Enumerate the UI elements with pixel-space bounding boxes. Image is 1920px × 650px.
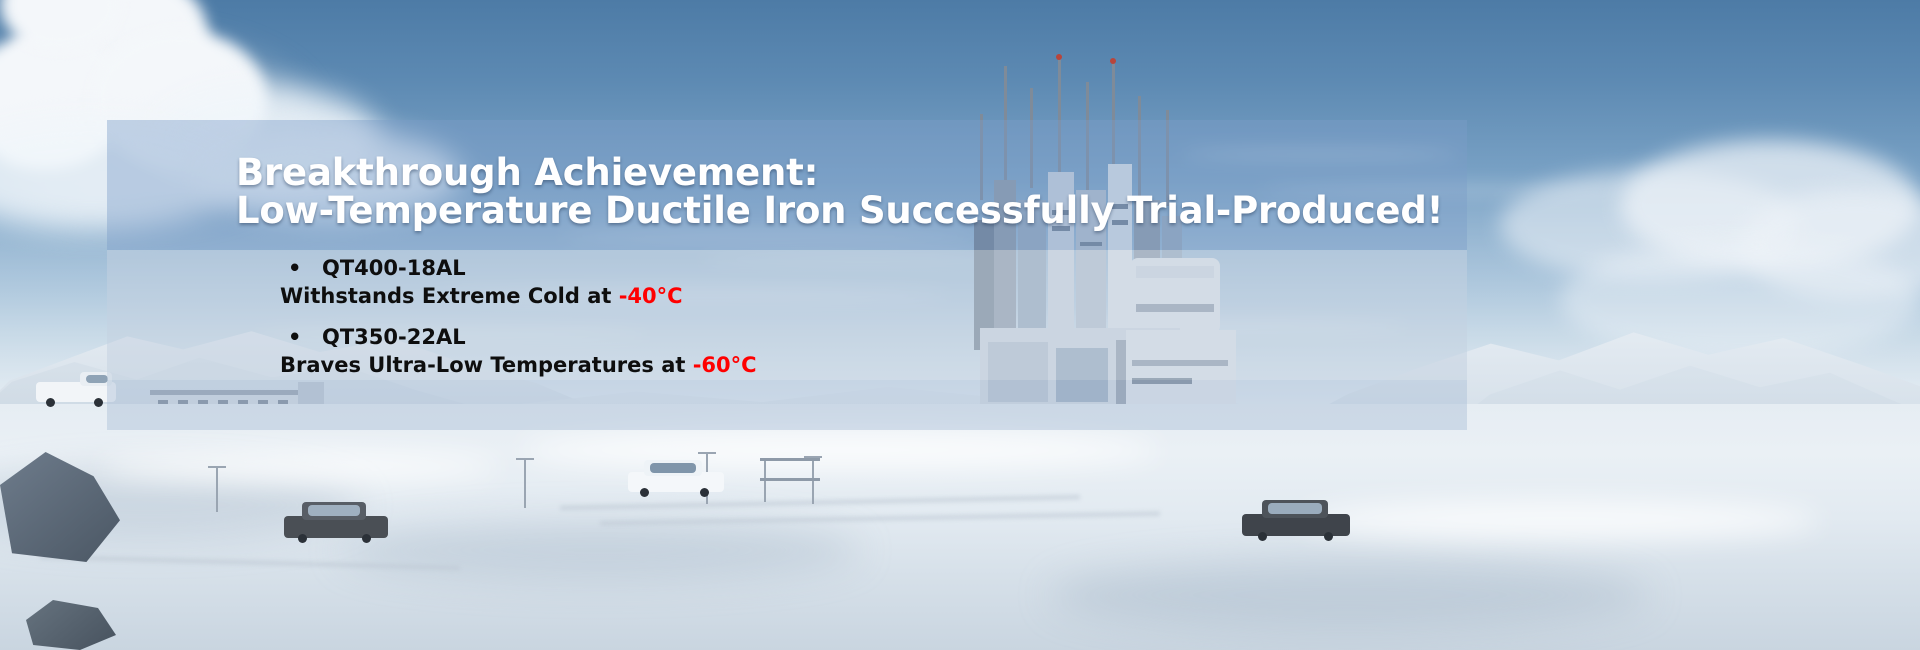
vehicle-suv-dark bbox=[284, 500, 388, 544]
list-item-grade: QT400-18AL bbox=[322, 256, 466, 280]
list-item-description-row: Withstands Extreme Cold at -40°C bbox=[280, 286, 1380, 307]
page-title: Breakthrough Achievement: Low-Temperatur… bbox=[236, 154, 1466, 230]
list-item-grade-row: •QT350-22AL bbox=[280, 327, 1380, 348]
feature-list: •QT400-18AL Withstands Extreme Cold at -… bbox=[280, 258, 1380, 376]
list-item-description-row: Braves Ultra-Low Temperatures at -60°C bbox=[280, 355, 1380, 376]
list-item-description: Braves Ultra-Low Temperatures at bbox=[280, 353, 693, 377]
bullet-icon: • bbox=[288, 327, 322, 348]
list-item-description: Withstands Extreme Cold at bbox=[280, 284, 619, 308]
vehicle-car-right bbox=[1242, 498, 1350, 542]
footer-panel bbox=[107, 380, 1467, 430]
bullet-icon: • bbox=[288, 258, 322, 279]
vehicle-suv-center bbox=[628, 458, 724, 498]
list-item-grade: QT350-22AL bbox=[322, 325, 466, 349]
list-item-temperature: -60°C bbox=[693, 353, 757, 377]
list-item: •QT350-22AL Braves Ultra-Low Temperature… bbox=[280, 327, 1380, 376]
list-item-temperature: -40°C bbox=[619, 284, 683, 308]
list-item-grade-row: •QT400-18AL bbox=[280, 258, 1380, 279]
vehicle-truck-left bbox=[36, 372, 116, 406]
list-item: •QT400-18AL Withstands Extreme Cold at -… bbox=[280, 258, 1380, 307]
banner-scene: Breakthrough Achievement: Low-Temperatur… bbox=[0, 0, 1920, 650]
